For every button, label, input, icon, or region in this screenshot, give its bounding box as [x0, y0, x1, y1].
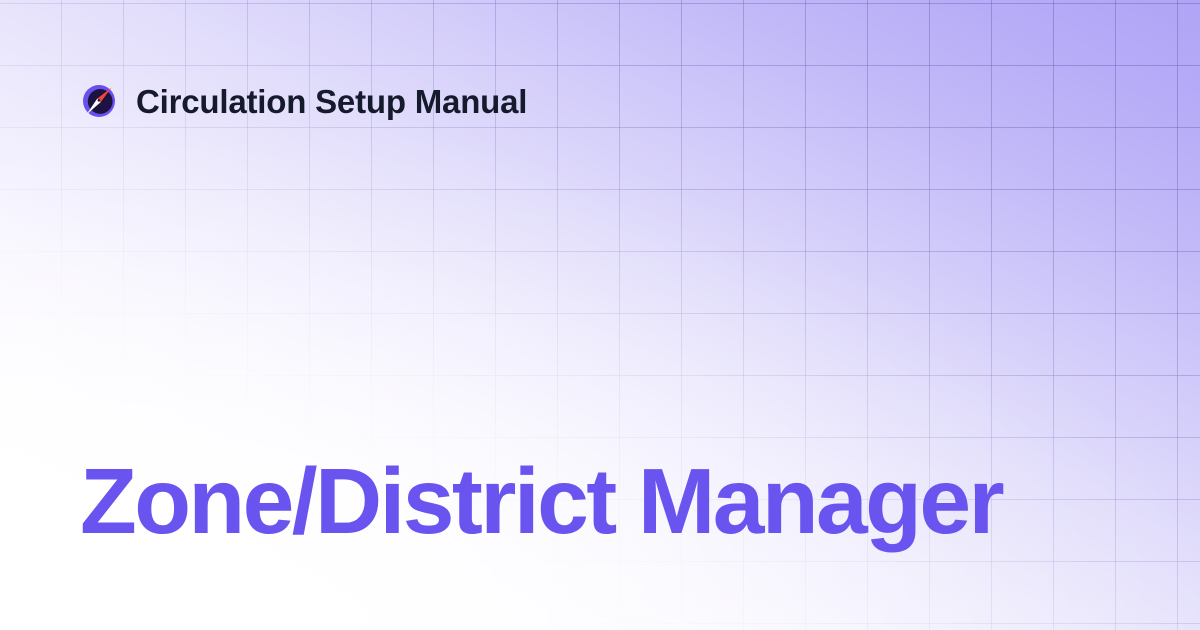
og-card: Circulation Setup Manual Zone/District M… — [0, 0, 1200, 630]
page-title: Zone/District Manager — [80, 455, 1140, 548]
brand-header: Circulation Setup Manual — [80, 82, 527, 120]
compass-icon — [80, 82, 118, 120]
card-content: Circulation Setup Manual Zone/District M… — [0, 0, 1200, 630]
brand-name: Circulation Setup Manual — [136, 85, 527, 118]
